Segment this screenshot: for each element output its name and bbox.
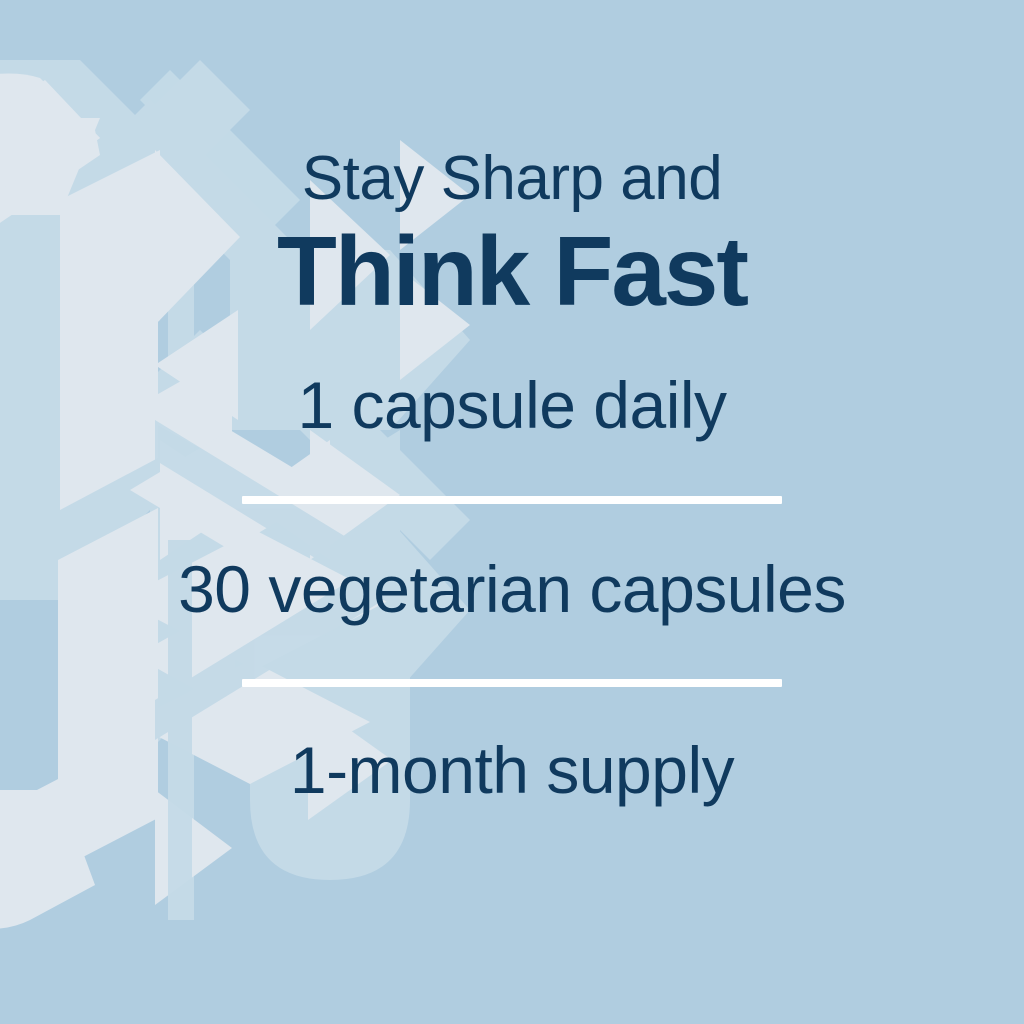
text-content: Stay Sharp and Think Fast 1 capsule dail… <box>0 0 1024 1024</box>
dosage-text: 1 capsule daily <box>297 372 726 438</box>
eyebrow-text: Stay Sharp and <box>302 148 722 210</box>
divider-bottom <box>242 679 782 687</box>
divider-top <box>242 496 782 504</box>
headline-text: Think Fast <box>277 222 747 320</box>
supply-duration-text: 1-month supply <box>290 737 734 803</box>
product-info-card: Stay Sharp and Think Fast 1 capsule dail… <box>0 0 1024 1024</box>
capsule-count-text: 30 vegetarian capsules <box>178 556 846 622</box>
